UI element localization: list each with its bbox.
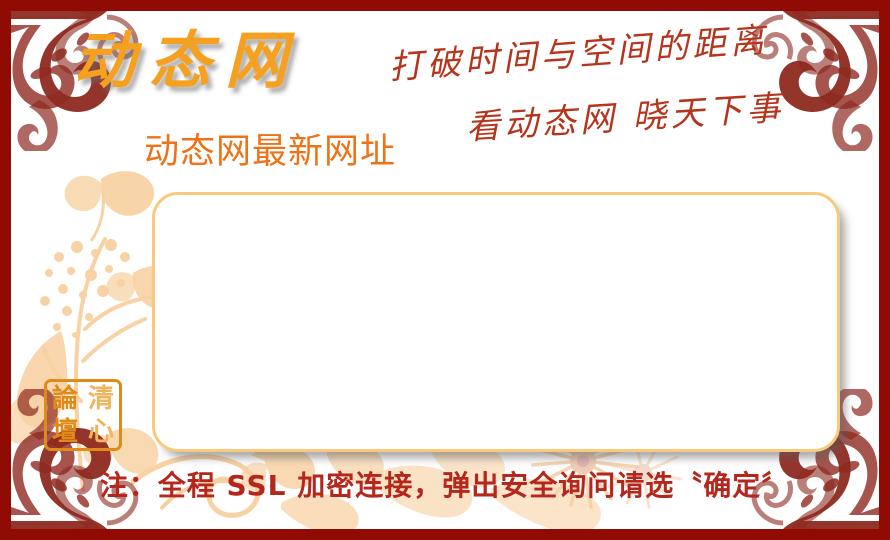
page-root: 动态网 动态网最新网址 打破时间与空间的距离 看动态网 晓天下事 論 清 壇 心…	[0, 0, 890, 540]
slogan-line-1: 打破时间与空间的距离	[388, 23, 769, 85]
seal-char-bottom-right: 心	[88, 419, 114, 445]
main-content-panel[interactable]	[152, 192, 840, 452]
seal-char-bottom-left: 壇	[52, 419, 78, 445]
forum-seal-logo[interactable]: 論 清 壇 心	[44, 379, 122, 451]
ssl-notice-text: 注：全程 SSL 加密连接，弹出安全询问请选〝确定〞	[11, 464, 879, 504]
page-subtitle: 动态网最新网址	[144, 135, 396, 170]
site-logo-title: 动态网	[73, 30, 301, 92]
seal-char-top-right: 清	[88, 386, 114, 412]
page-canvas: 动态网 动态网最新网址 打破时间与空间的距离 看动态网 晓天下事 論 清 壇 心…	[11, 11, 879, 529]
seal-char-top-left: 論	[52, 386, 78, 412]
slogan-line-2: 看动态网 晓天下事	[465, 91, 785, 145]
